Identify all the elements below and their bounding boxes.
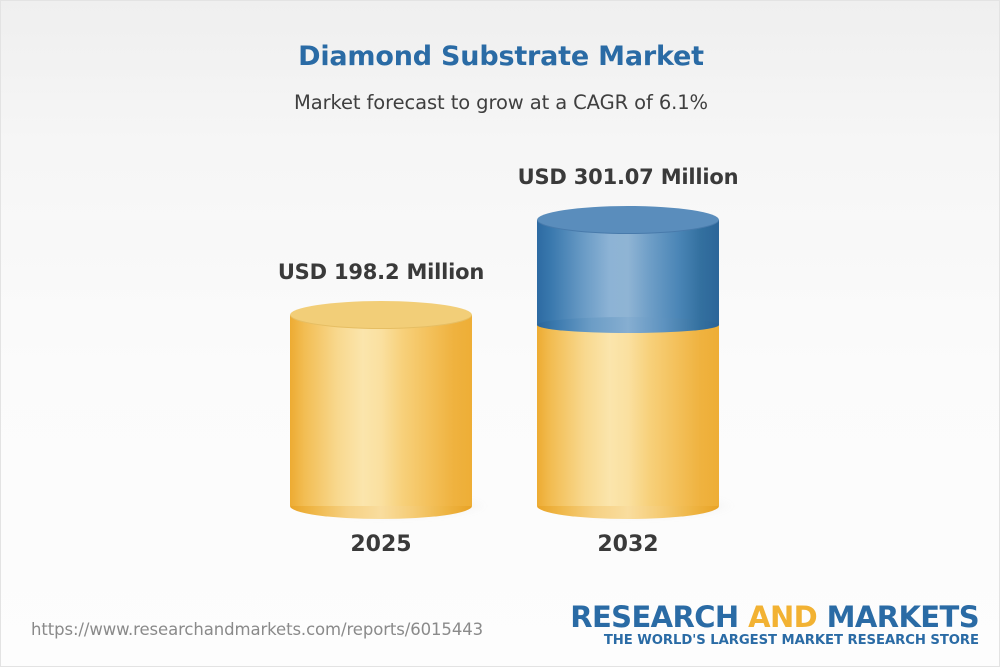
cylinder-body-growth — [537, 220, 719, 325]
bar-value-label-2025: USD 198.2 Million — [230, 260, 532, 284]
cylinder-segment-seam — [537, 317, 719, 333]
brand-name-and: AND — [748, 600, 817, 634]
chart-canvas: Diamond Substrate Market Market forecast… — [0, 0, 1000, 667]
brand-name-part1: RESEARCH — [570, 600, 748, 634]
bar-value-label-2032: USD 301.07 Million — [477, 165, 779, 189]
brand-tagline: THE WORLD'S LARGEST MARKET RESEARCH STOR… — [570, 632, 979, 650]
footer: https://www.researchandmarkets.com/repor… — [1, 596, 1000, 666]
cylinder-body-base — [290, 315, 472, 506]
cylinder-top-cap — [537, 206, 719, 234]
cylinder-top-cap — [290, 301, 472, 329]
plot-area: USD 198.2 Million 2025 USD 301.07 Millio… — [1, 1, 1000, 601]
brand-name-part2: MARKETS — [817, 600, 979, 634]
brand-logo[interactable]: RESEARCH AND MARKETS THE WORLD'S LARGEST… — [570, 602, 979, 651]
cylinder-body-base — [537, 319, 719, 506]
source-url-link[interactable]: https://www.researchandmarkets.com/repor… — [31, 620, 483, 639]
brand-name: RESEARCH AND MARKETS — [570, 602, 979, 632]
category-label-2032: 2032 — [477, 532, 779, 557]
